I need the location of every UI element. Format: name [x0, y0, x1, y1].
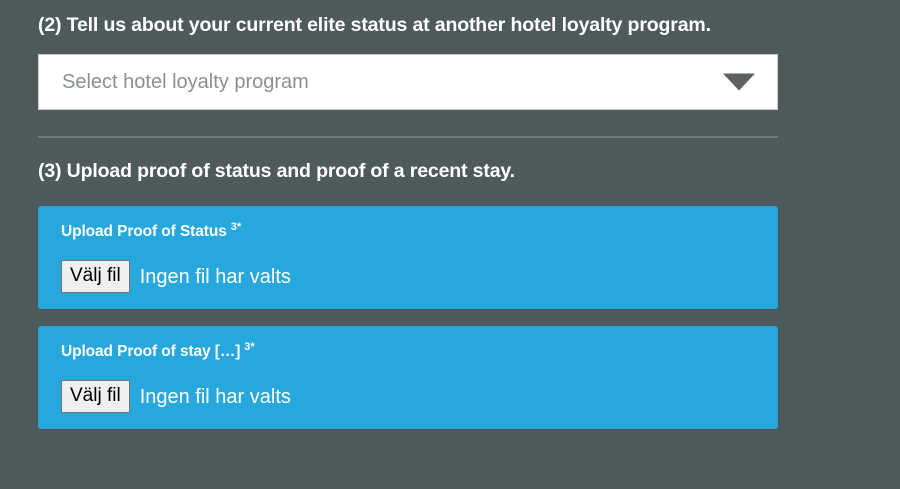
chevron-down-icon — [723, 73, 755, 90]
form-page: (2) Tell us about your current elite sta… — [0, 0, 900, 489]
choose-file-button[interactable]: Välj fil — [61, 380, 130, 413]
upload-proof-of-status-label: Upload Proof of Status3* — [61, 222, 778, 240]
section-divider — [38, 136, 778, 138]
file-status-text: Ingen fil har valts — [140, 267, 291, 287]
file-input-row: Välj fil Ingen fil har valts — [61, 380, 778, 413]
question-3-heading: (3) Upload proof of status and proof of … — [38, 160, 778, 184]
upload-label-text: Upload Proof of Status — [61, 223, 227, 240]
file-status-text: Ingen fil har valts — [140, 387, 291, 407]
file-input-row: Välj fil Ingen fil har valts — [61, 260, 778, 293]
choose-file-button[interactable]: Välj fil — [61, 260, 130, 293]
upload-proof-of-status-panel: Upload Proof of Status3* Välj fil Ingen … — [38, 206, 778, 309]
upload-label-superscript: 3* — [244, 341, 254, 353]
select-selected-value: Select hotel loyalty program — [39, 72, 309, 92]
upload-label-text: Upload Proof of stay […] — [61, 343, 240, 360]
upload-label-superscript: 3* — [231, 221, 241, 233]
question-2-heading: (2) Tell us about your current elite sta… — [38, 0, 756, 38]
upload-proof-of-stay-panel: Upload Proof of stay […]3* Välj fil Inge… — [38, 326, 778, 429]
hotel-loyalty-program-select[interactable]: Select hotel loyalty program — [38, 54, 778, 110]
form-content: (2) Tell us about your current elite sta… — [38, 0, 778, 429]
upload-proof-of-stay-label: Upload Proof of stay […]3* — [61, 342, 778, 360]
